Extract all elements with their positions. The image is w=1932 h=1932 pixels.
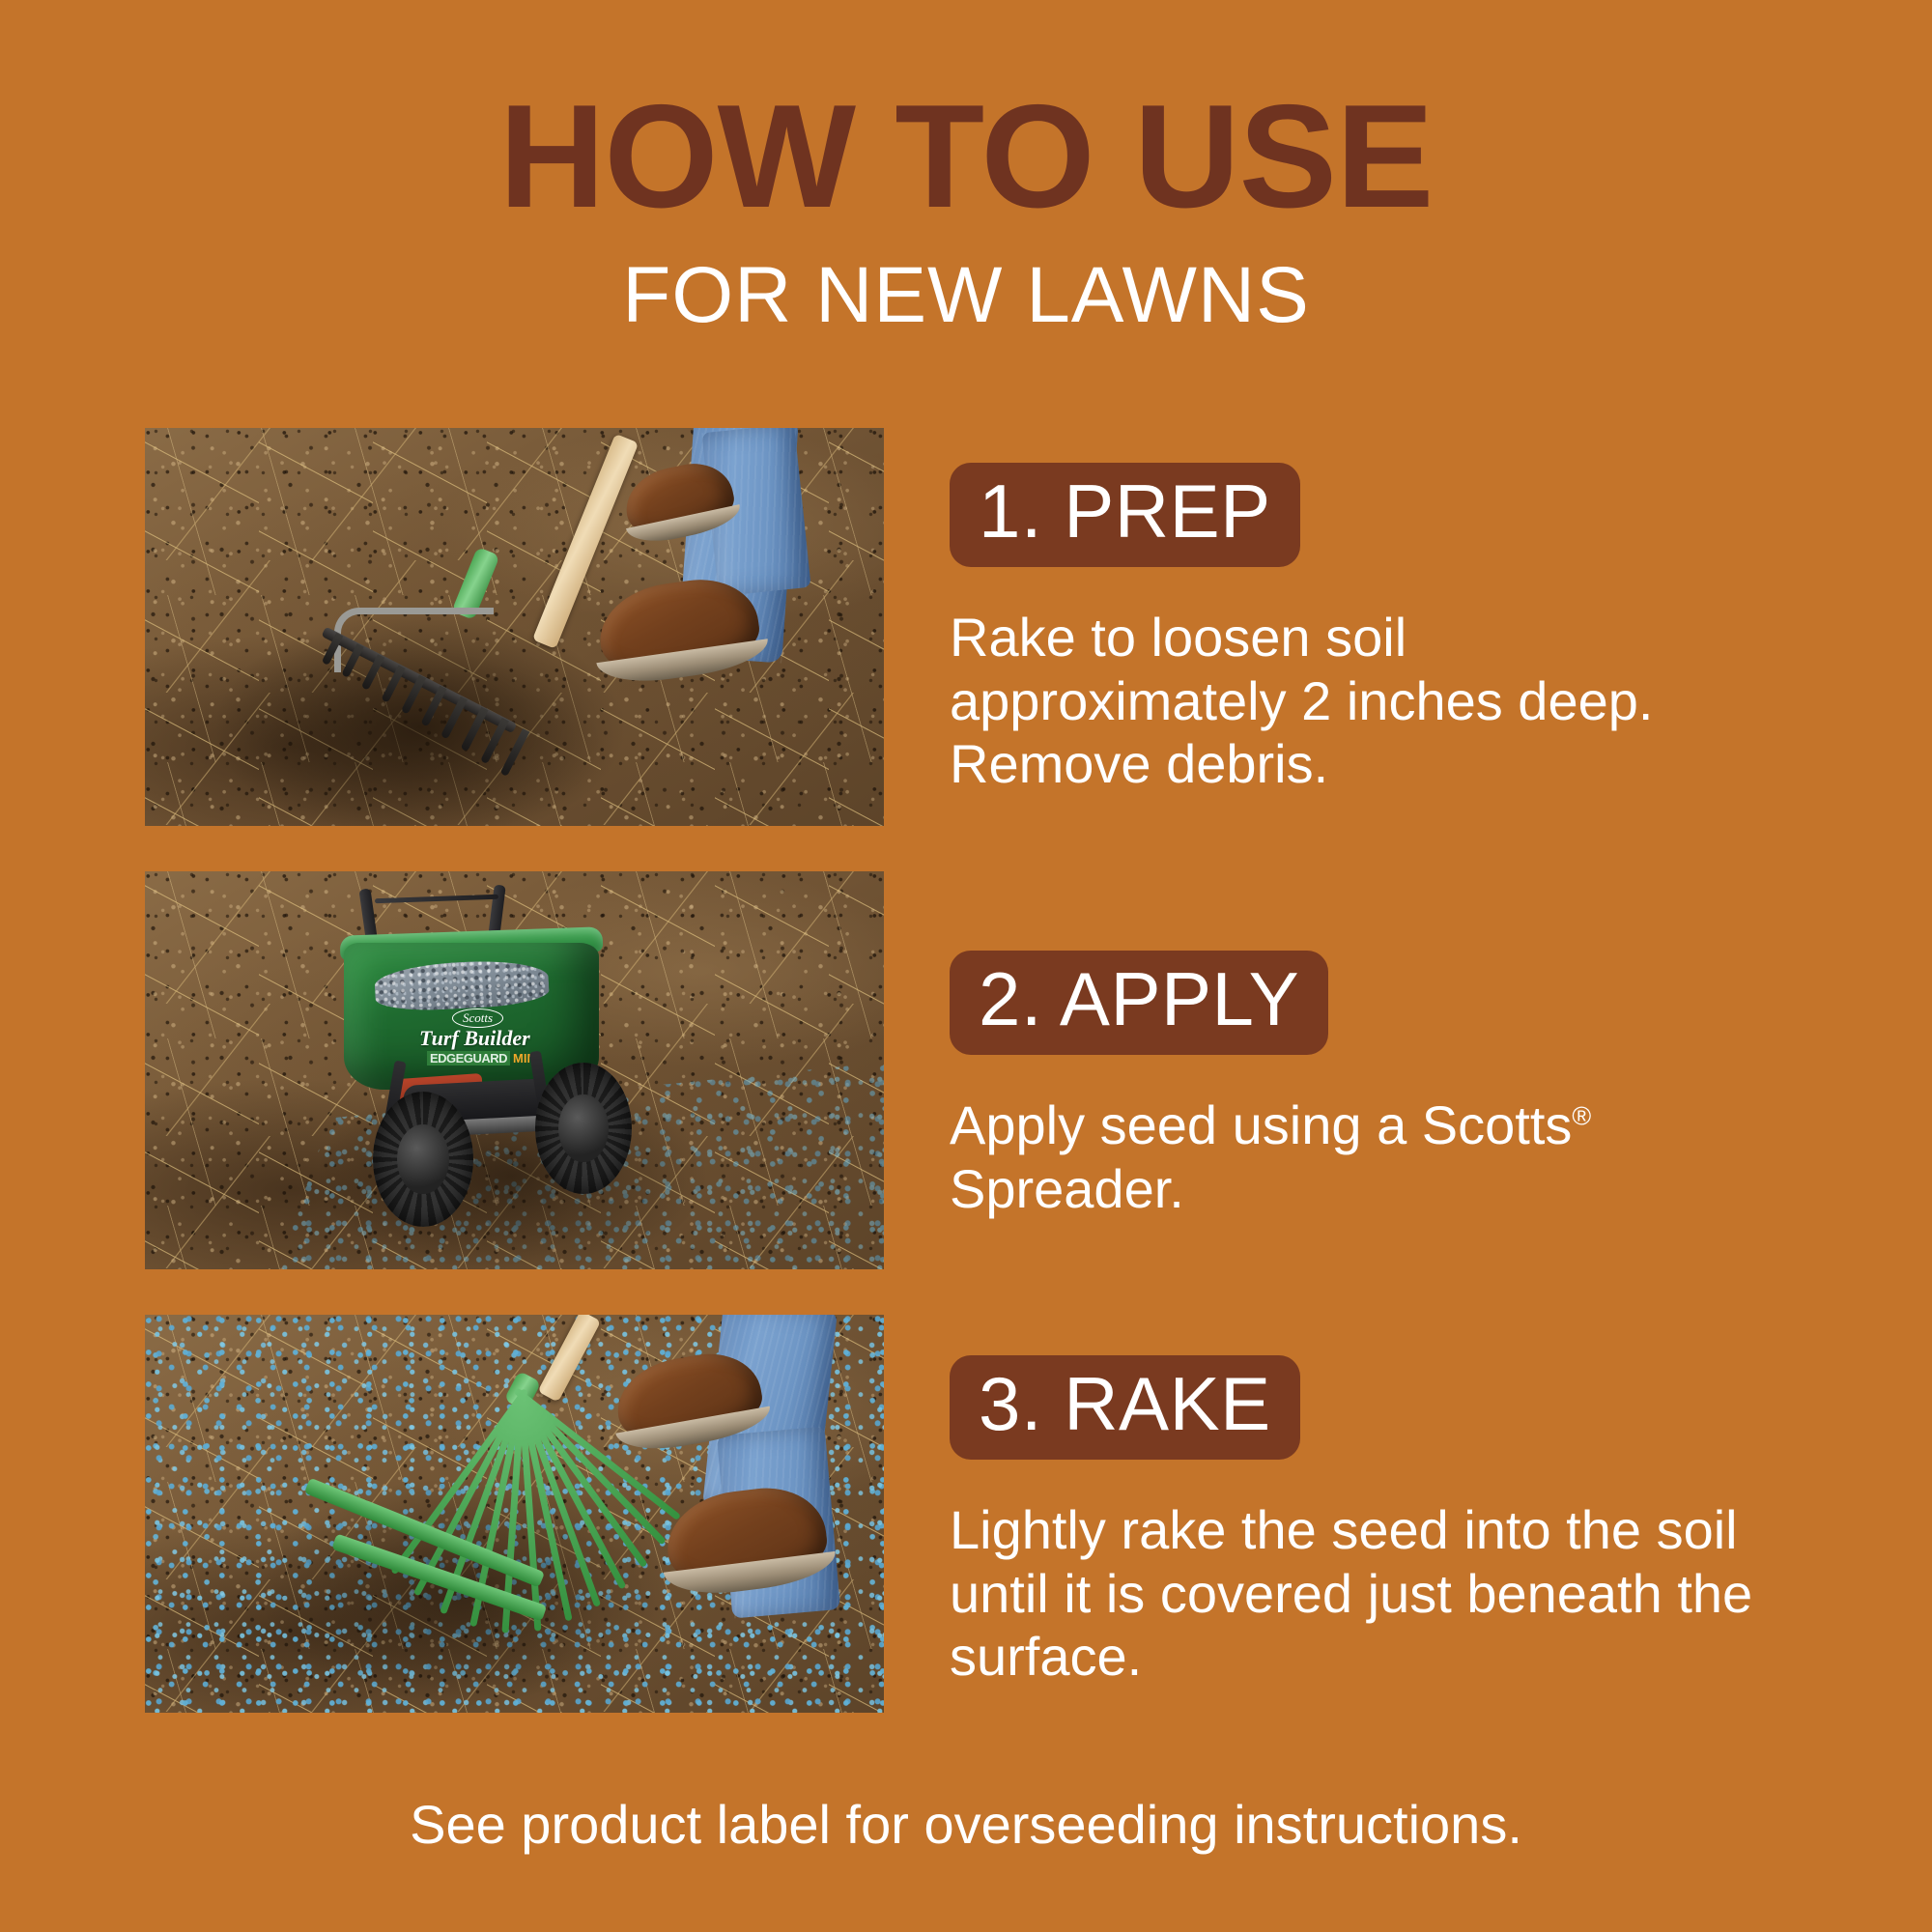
step-description-prep: Rake to loosen soil approximately 2 inch… bbox=[950, 606, 1742, 796]
registered-mark: ® bbox=[1572, 1101, 1591, 1130]
scotts-logo: Scotts bbox=[452, 1009, 503, 1028]
step-item-rake: 3. RAKE Lightly rake the seed into the s… bbox=[145, 1315, 1806, 1713]
step-photo-rake bbox=[145, 1315, 884, 1713]
poster-header: HOW TO USE FOR NEW LAWNS bbox=[0, 85, 1932, 335]
step-badge-rake: 3. RAKE bbox=[950, 1355, 1300, 1460]
edgeguard-mini-logo: EDGEGUARDMINI bbox=[427, 1051, 539, 1065]
step-photo-apply: Scotts Turf Builder EDGEGUARDMINI bbox=[145, 871, 884, 1269]
spreader-wheel-left bbox=[373, 1092, 473, 1227]
rake-neck bbox=[334, 608, 494, 672]
edgeguard-label: EDGEGUARD bbox=[427, 1051, 510, 1065]
step-text-prep: 1. PREP Rake to loosen soil approximatel… bbox=[884, 428, 1806, 796]
step-badge-prep: 1. PREP bbox=[950, 463, 1300, 567]
step-item-apply: Scotts Turf Builder EDGEGUARDMINI 2. APP… bbox=[145, 871, 1806, 1269]
apply-text-post: Spreader. bbox=[950, 1158, 1184, 1219]
apply-text-pre: Apply seed using a Scotts bbox=[950, 1094, 1572, 1155]
step-text-rake: 3. RAKE Lightly rake the seed into the s… bbox=[884, 1315, 1806, 1689]
page-title: HOW TO USE bbox=[0, 85, 1932, 229]
footer-note: See product label for overseeding instru… bbox=[0, 1793, 1932, 1856]
page-subtitle: FOR NEW LAWNS bbox=[0, 256, 1932, 335]
step-photo-prep bbox=[145, 428, 884, 826]
step-item-prep: 1. PREP Rake to loosen soil approximatel… bbox=[145, 428, 1806, 826]
infographic-poster: HOW TO USE FOR NEW LAWNS bbox=[0, 0, 1932, 1932]
spreader-wheel-right bbox=[535, 1063, 632, 1194]
step-text-apply: 2. APPLY Apply seed using a Scotts® Spre… bbox=[884, 871, 1806, 1220]
step-badge-apply: 2. APPLY bbox=[950, 951, 1328, 1055]
step-description-apply: Apply seed using a Scotts® Spreader. bbox=[950, 1094, 1742, 1220]
steps-list: 1. PREP Rake to loosen soil approximatel… bbox=[145, 428, 1806, 1758]
turf-builder-logo: Turf Builder bbox=[419, 1026, 530, 1051]
step-description-rake: Lightly rake the seed into the soil unti… bbox=[950, 1498, 1800, 1689]
